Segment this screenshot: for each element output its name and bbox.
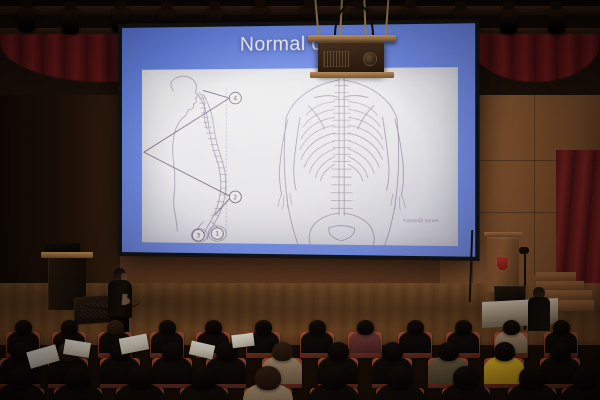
stage-light-icon bbox=[500, 8, 517, 34]
projector-lens bbox=[363, 52, 377, 66]
audience-member-head bbox=[272, 342, 293, 361]
audience-member-head bbox=[7, 366, 33, 390]
auditorium-photo: Normal curv bbox=[0, 0, 600, 400]
audience-member-head bbox=[550, 342, 571, 361]
svg-text:2: 2 bbox=[233, 195, 237, 201]
wall-seam bbox=[534, 95, 535, 275]
printed-program bbox=[231, 333, 254, 349]
audience-member-head bbox=[573, 366, 599, 390]
audience-member-head bbox=[453, 366, 479, 390]
audience-member-head bbox=[65, 366, 91, 390]
audience-member-head bbox=[309, 320, 326, 335]
audience-member-head bbox=[107, 320, 124, 335]
ceiling-projector bbox=[306, 0, 398, 80]
audience-member-head bbox=[159, 320, 176, 335]
audience-member-head bbox=[162, 342, 183, 361]
projector-mount-plate bbox=[308, 35, 396, 42]
podium-body bbox=[487, 237, 519, 292]
audience-member-head bbox=[357, 320, 374, 335]
audience-member-head bbox=[255, 320, 272, 335]
audience-member-head bbox=[503, 320, 520, 335]
audience-member-head bbox=[387, 366, 413, 390]
presenter-hand bbox=[123, 298, 130, 304]
audience-member-head bbox=[407, 320, 424, 335]
audience-member-head bbox=[553, 320, 570, 335]
projector-vent bbox=[323, 51, 349, 67]
svg-text:3: 3 bbox=[196, 234, 200, 240]
slide-content-area: 4 2 1 3 bbox=[142, 67, 458, 246]
audience-member-head bbox=[191, 366, 217, 390]
stage-light-icon bbox=[548, 8, 565, 34]
projector-cable bbox=[314, 0, 319, 38]
wooden-podium bbox=[487, 232, 519, 292]
audience-member-head bbox=[205, 320, 222, 335]
audience-member-head bbox=[455, 320, 472, 335]
projector-body bbox=[318, 42, 384, 74]
audience-member-head bbox=[255, 366, 281, 390]
audience-member-head bbox=[127, 366, 153, 390]
slide-title: Normal curv bbox=[122, 32, 475, 58]
projection-screen: Normal curv bbox=[118, 19, 480, 261]
stage-light-icon bbox=[18, 6, 35, 32]
audience-member-head bbox=[321, 366, 347, 390]
audience-member-head bbox=[328, 342, 349, 361]
audience-member-head bbox=[438, 342, 459, 361]
audience-member-head bbox=[15, 320, 32, 335]
screen-surface: Normal curv bbox=[122, 23, 475, 257]
projector-base-shelf bbox=[310, 72, 394, 78]
podium-crest-emblem bbox=[497, 257, 508, 270]
audience-member-head bbox=[494, 342, 515, 361]
audience-member-head bbox=[61, 320, 78, 335]
audience-member-head bbox=[382, 342, 403, 361]
stage-light-icon bbox=[62, 8, 79, 34]
svg-text:4: 4 bbox=[233, 96, 237, 102]
svg-text:1: 1 bbox=[215, 232, 219, 238]
slide-caption: Kapandji series bbox=[403, 218, 438, 224]
audience-member-head bbox=[519, 366, 545, 390]
seated-audience bbox=[0, 312, 600, 400]
projector-cable bbox=[385, 0, 390, 38]
